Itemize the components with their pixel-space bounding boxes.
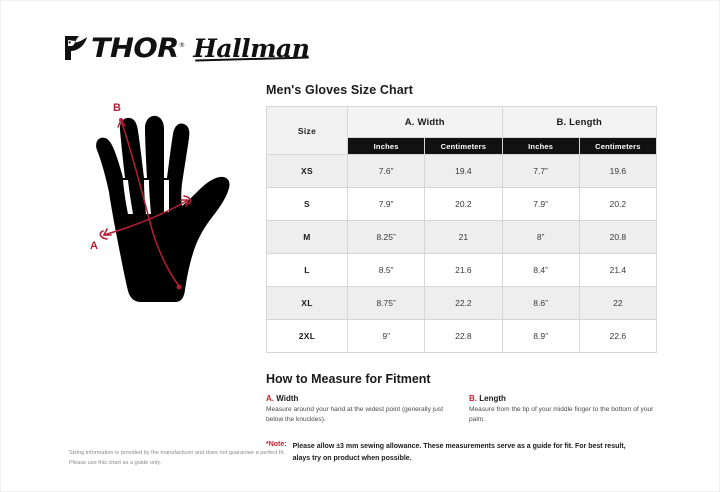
measure-length-heading: B. Length [469,394,657,403]
note-block: *Note: Please allow ±3 mm sewing allowan… [266,441,657,463]
hand-silhouette-icon [96,116,229,302]
measure-length-text: Measure from the tip of your middle fing… [469,405,655,425]
cell-length-centimeters: 22.6 [579,320,656,353]
cell-size: M [267,221,348,254]
cell-length-inches: 8.6” [502,287,579,320]
cell-length-centimeters: 21.4 [579,254,656,287]
cell-width-inches: 9” [348,320,425,353]
cell-length-inches: 7.9” [502,188,579,221]
brand-header: THOR® Hallman [63,34,309,62]
hallman-logo: Hallman [193,36,309,61]
measure-width-heading: A. Width [266,394,469,403]
table-row: 2XL 9” 22.8 8.9” 22.6 [267,320,657,353]
cell-length-inches: 8.9” [502,320,579,353]
thor-logo: THOR® [63,34,179,62]
cell-width-centimeters: 20.2 [425,188,502,221]
cell-length-centimeters: 20.8 [579,221,656,254]
header-width-centimeters: Centimeters [425,138,502,155]
cell-size: XL [267,287,348,320]
cell-width-inches: 7.6” [348,155,425,188]
cell-width-centimeters: 22.2 [425,287,502,320]
page-title: Men's Gloves Size Chart [266,83,657,97]
cell-size: S [267,188,348,221]
cell-length-centimeters: 22 [579,287,656,320]
thor-bird-icon [63,34,89,62]
header-group-width: A. Width [348,107,503,138]
table-row: S 7.9” 20.2 7.9” 20.2 [267,188,657,221]
how-to-measure-columns: A. Width Measure around your hand at the… [266,394,657,425]
measure-width-text: Measure around your hand at the widest p… [266,405,452,425]
hand-measurement-diagram: A B [71,96,256,316]
registered-trademark-icon: ® [179,42,185,49]
measure-width-name: Width [276,394,298,403]
header-length-inches: Inches [502,138,579,155]
table-header: Size A. Width B. Length Inches Centimete… [267,107,657,155]
disclaimer-footer: Sizing information is provided by the ma… [69,449,285,469]
table-body: XS 7.6” 19.4 7.7” 19.6 S 7.9” 20.2 7.9” … [267,155,657,353]
measure-width-letter: A. [266,394,274,403]
how-to-measure-title: How to Measure for Fitment [266,372,657,386]
header-width-inches: Inches [348,138,425,155]
table-row: XS 7.6” 19.4 7.7” 19.6 [267,155,657,188]
cell-length-inches: 8” [502,221,579,254]
table-header-row-groups: Size A. Width B. Length [267,107,657,138]
cell-width-centimeters: 21.6 [425,254,502,287]
label-b: B [113,102,121,114]
disclaimer-line-1: Sizing information is provided by the ma… [69,449,285,459]
note-text: Please allow ±3 mm sewing allowance. The… [293,441,645,463]
cell-length-inches: 7.7” [502,155,579,188]
disclaimer-line-2: Please use this chart as a guide only. [69,459,285,469]
table-row: M 8.25” 21 8” 20.8 [267,221,657,254]
cell-width-inches: 8.75” [348,287,425,320]
cell-width-centimeters: 21 [425,221,502,254]
label-a: A [90,240,98,252]
header-length-centimeters: Centimeters [579,138,656,155]
header-size: Size [267,107,348,155]
cell-length-inches: 8.4” [502,254,579,287]
measure-length-letter: B. [469,394,477,403]
measure-length-block: B. Length Measure from the tip of your m… [469,394,657,425]
header-group-length: B. Length [502,107,657,138]
cell-length-centimeters: 20.2 [579,188,656,221]
chart-column: Men's Gloves Size Chart Size A. Width B.… [266,83,657,464]
cell-size: 2XL [267,320,348,353]
cell-width-centimeters: 22.8 [425,320,502,353]
cell-size: L [267,254,348,287]
cell-width-inches: 8.25” [348,221,425,254]
size-chart-table: Size A. Width B. Length Inches Centimete… [266,106,657,353]
measure-width-block: A. Width Measure around your hand at the… [266,394,469,425]
measure-length-name: Length [479,394,506,403]
cell-size: XS [267,155,348,188]
cell-width-centimeters: 19.4 [425,155,502,188]
cell-length-centimeters: 19.6 [579,155,656,188]
table-row: L 8.5” 21.6 8.4” 21.4 [267,254,657,287]
table-row: XL 8.75” 22.2 8.6” 22 [267,287,657,320]
cell-width-inches: 8.5” [348,254,425,287]
size-chart-page: THOR® Hallman A [0,0,720,492]
thor-wordmark: THOR® [91,35,185,62]
cell-width-inches: 7.9” [348,188,425,221]
